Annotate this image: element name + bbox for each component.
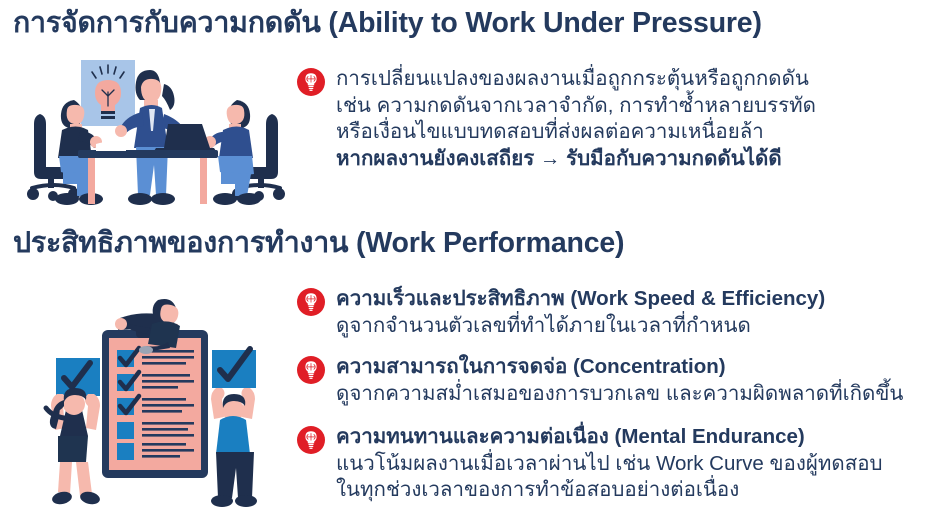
lightbulb-brain-icon <box>297 426 325 454</box>
bullet-line: แนวโน้มผลงานเมื่อเวลาผ่านไป เช่น Work Cu… <box>336 451 883 478</box>
lightbulb-brain-icon <box>297 68 325 96</box>
bullet-line-emphasis: หากผลงานยังคงเสถียร → รับมือกับความกดดัน… <box>336 146 816 173</box>
bullet-mental-endurance: ความทนทานและความต่อเนื่อง (Mental Endura… <box>297 424 883 504</box>
bullet-title: ความเร็วและประสิทธิภาพ (Work Speed & Eff… <box>336 286 825 313</box>
checklist-clipboard-people-illustration <box>24 292 288 520</box>
bullet-mental-endurance-text: ความทนทานและความต่อเนื่อง (Mental Endura… <box>336 424 883 504</box>
bullet-line: ดูจากความสม่ำเสมอของการบวกเลข และความผิด… <box>336 381 903 408</box>
bullet-pressure: การเปลี่ยนแปลงของผลงานเมื่อถูกกระตุ้นหรื… <box>297 66 816 172</box>
bullet-line: หรือเงื่อนไขแบบทดสอบที่ส่งผลต่อความเหนื่… <box>336 119 816 146</box>
section-heading-performance: ประสิทธิภาพของการทำงาน (Work Performance… <box>13 228 624 259</box>
slide-root: การจัดการกับความกดดัน (Ability to Work U… <box>0 0 951 531</box>
bullet-line: การเปลี่ยนแปลงของผลงานเมื่อถูกกระตุ้นหรื… <box>336 66 816 93</box>
bullet-line: ดูจากจำนวนตัวเลขที่ทำได้ภายในเวลาที่กำหน… <box>336 313 825 340</box>
bullet-concentration: ความสามารถในการจดจ่อ (Concentration) ดูจ… <box>297 354 903 407</box>
bullet-title: ความสามารถในการจดจ่อ (Concentration) <box>336 354 903 381</box>
bullet-title: ความทนทานและความต่อเนื่อง (Mental Endura… <box>336 424 883 451</box>
bullet-work-speed: ความเร็วและประสิทธิภาพ (Work Speed & Eff… <box>297 286 825 339</box>
bullet-line: ในทุกช่วงเวลาของการทำข้อสอบอย่างต่อเนื่อ… <box>336 477 883 504</box>
lightbulb-brain-icon <box>297 356 325 384</box>
lightbulb-brain-icon <box>297 288 325 316</box>
team-meeting-brainstorm-illustration <box>22 52 290 217</box>
bullet-line: เช่น ความกดดันจากเวลาจำกัด, การทำซ้ำหลาย… <box>336 93 816 120</box>
bullet-pressure-text: การเปลี่ยนแปลงของผลงานเมื่อถูกกระตุ้นหรื… <box>336 66 816 172</box>
bullet-concentration-text: ความสามารถในการจดจ่อ (Concentration) ดูจ… <box>336 354 903 407</box>
section-heading-pressure: การจัดการกับความกดดัน (Ability to Work U… <box>13 8 762 39</box>
bullet-work-speed-text: ความเร็วและประสิทธิภาพ (Work Speed & Eff… <box>336 286 825 339</box>
